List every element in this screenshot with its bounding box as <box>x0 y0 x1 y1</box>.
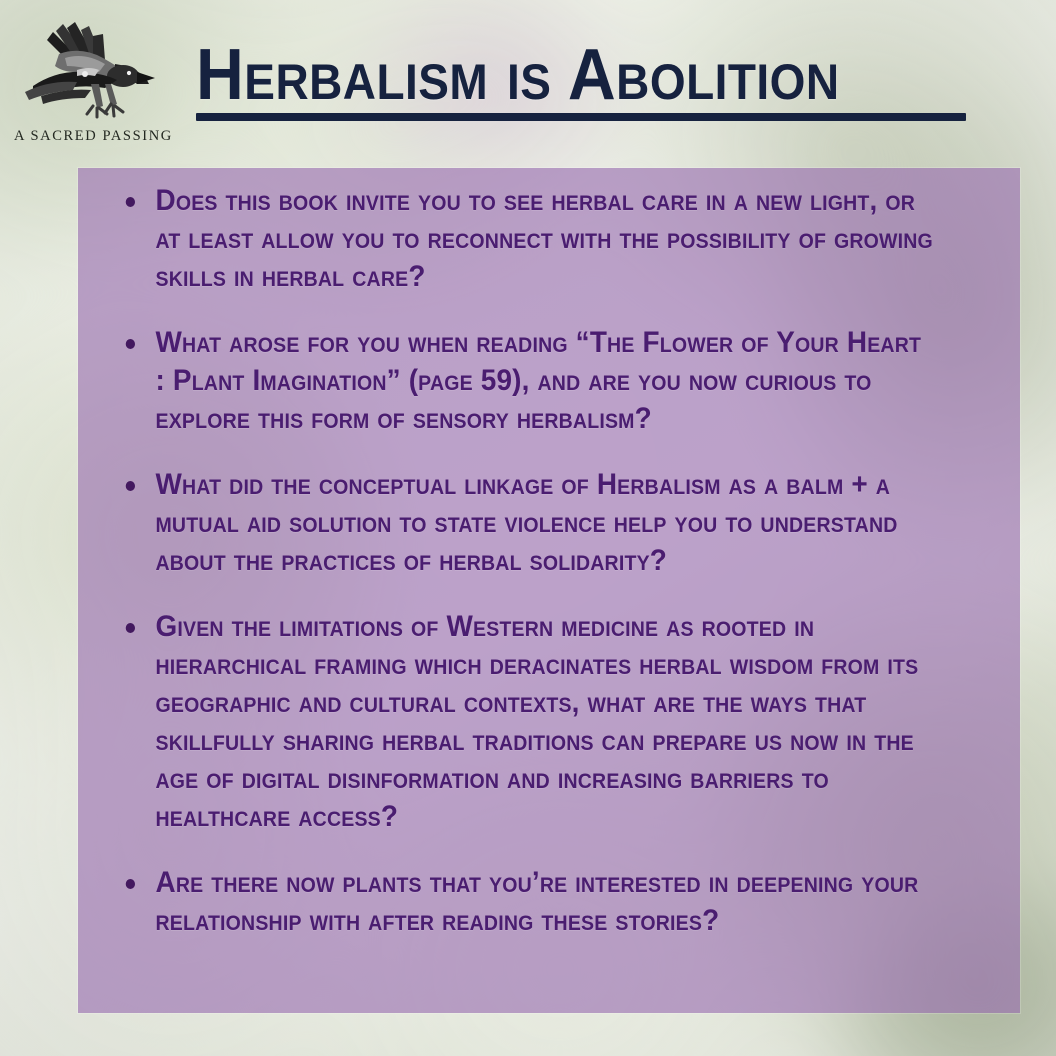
question-text: Does this book invite you to see herbal … <box>155 182 934 296</box>
bullet-dot-icon <box>126 879 135 889</box>
list-item: Are there now plants that you’re interes… <box>122 864 935 940</box>
list-item: Does this book invite you to see herbal … <box>122 182 935 296</box>
bullet-dot-icon <box>126 623 135 633</box>
bullet-dot-icon <box>126 481 135 491</box>
question-text: Are there now plants that you’re interes… <box>155 864 934 940</box>
poster-canvas: A SACRED PASSING Herbalism is Abolition … <box>0 0 1056 1056</box>
question-list: Does this book invite you to see herbal … <box>122 182 996 940</box>
list-item: What did the conceptual linkage of Herba… <box>122 466 935 580</box>
page-title: Herbalism is Abolition <box>196 44 923 107</box>
questions-panel: Does this book invite you to see herbal … <box>78 168 1020 1013</box>
bullet-dot-icon <box>126 197 135 207</box>
question-text: What did the conceptual linkage of Herba… <box>155 466 934 580</box>
list-item: Given the limitations of Western medicin… <box>122 608 935 836</box>
question-text: What arose for you when reading “The Flo… <box>155 324 934 438</box>
list-item: What arose for you when reading “The Flo… <box>122 324 935 438</box>
brand-logo: A SACRED PASSING <box>14 14 164 145</box>
flying-raven-icon <box>19 14 159 126</box>
question-text: Given the limitations of Western medicin… <box>155 608 934 836</box>
bullet-dot-icon <box>126 339 135 349</box>
title-block: Herbalism is Abolition <box>196 44 986 121</box>
brand-wordmark: A SACRED PASSING <box>14 128 164 145</box>
